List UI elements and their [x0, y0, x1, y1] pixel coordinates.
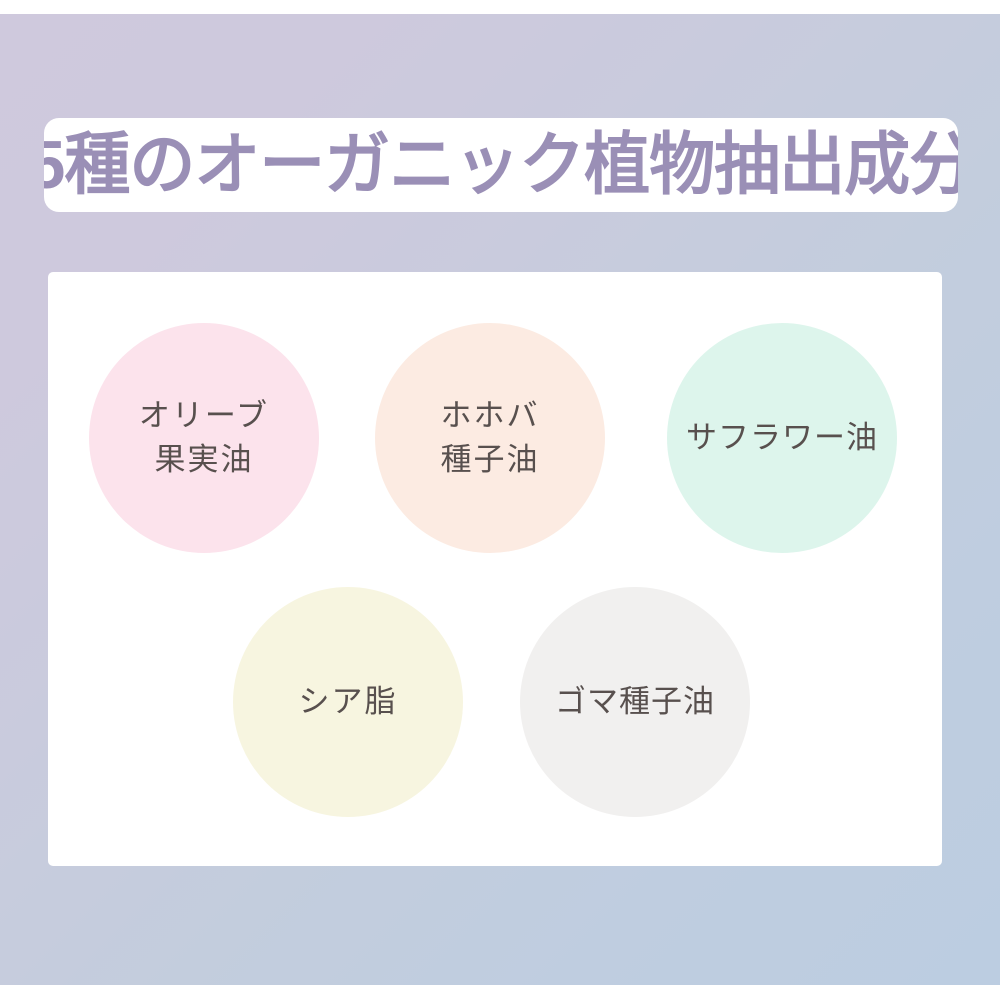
ingredient-bubble-jojoba-seed-oil: ホホバ 種子油 — [375, 323, 605, 553]
page-title: 5種のオーガニック植物抽出成分 — [44, 131, 958, 199]
ingredient-label-jojoba-seed-oil: ホホバ 種子油 — [441, 394, 540, 482]
ingredient-bubble-safflower-oil: サフラワー油 — [667, 323, 897, 553]
ingredient-label-safflower-oil: サフラワー油 — [686, 416, 878, 460]
ingredients-panel: オリーブ 果実油 ホホバ 種子油 サフラワー油 シア脂 ゴマ種子油 — [48, 272, 942, 866]
ingredient-bubble-shea-butter: シア脂 — [233, 587, 463, 817]
ingredient-bubble-sesame-seed-oil: ゴマ種子油 — [520, 587, 750, 817]
title-banner-card: 5種のオーガニック植物抽出成分 — [44, 118, 958, 212]
ingredient-label-olive-fruit-oil: オリーブ 果実油 — [139, 394, 269, 482]
ingredient-bubble-olive-fruit-oil: オリーブ 果実油 — [89, 323, 319, 553]
infographic-canvas: 5種のオーガニック植物抽出成分 オリーブ 果実油 ホホバ 種子油 サフラワー油 … — [0, 0, 1000, 1000]
ingredient-label-sesame-seed-oil: ゴマ種子油 — [555, 680, 715, 724]
ingredient-label-shea-butter: シア脂 — [299, 680, 398, 724]
